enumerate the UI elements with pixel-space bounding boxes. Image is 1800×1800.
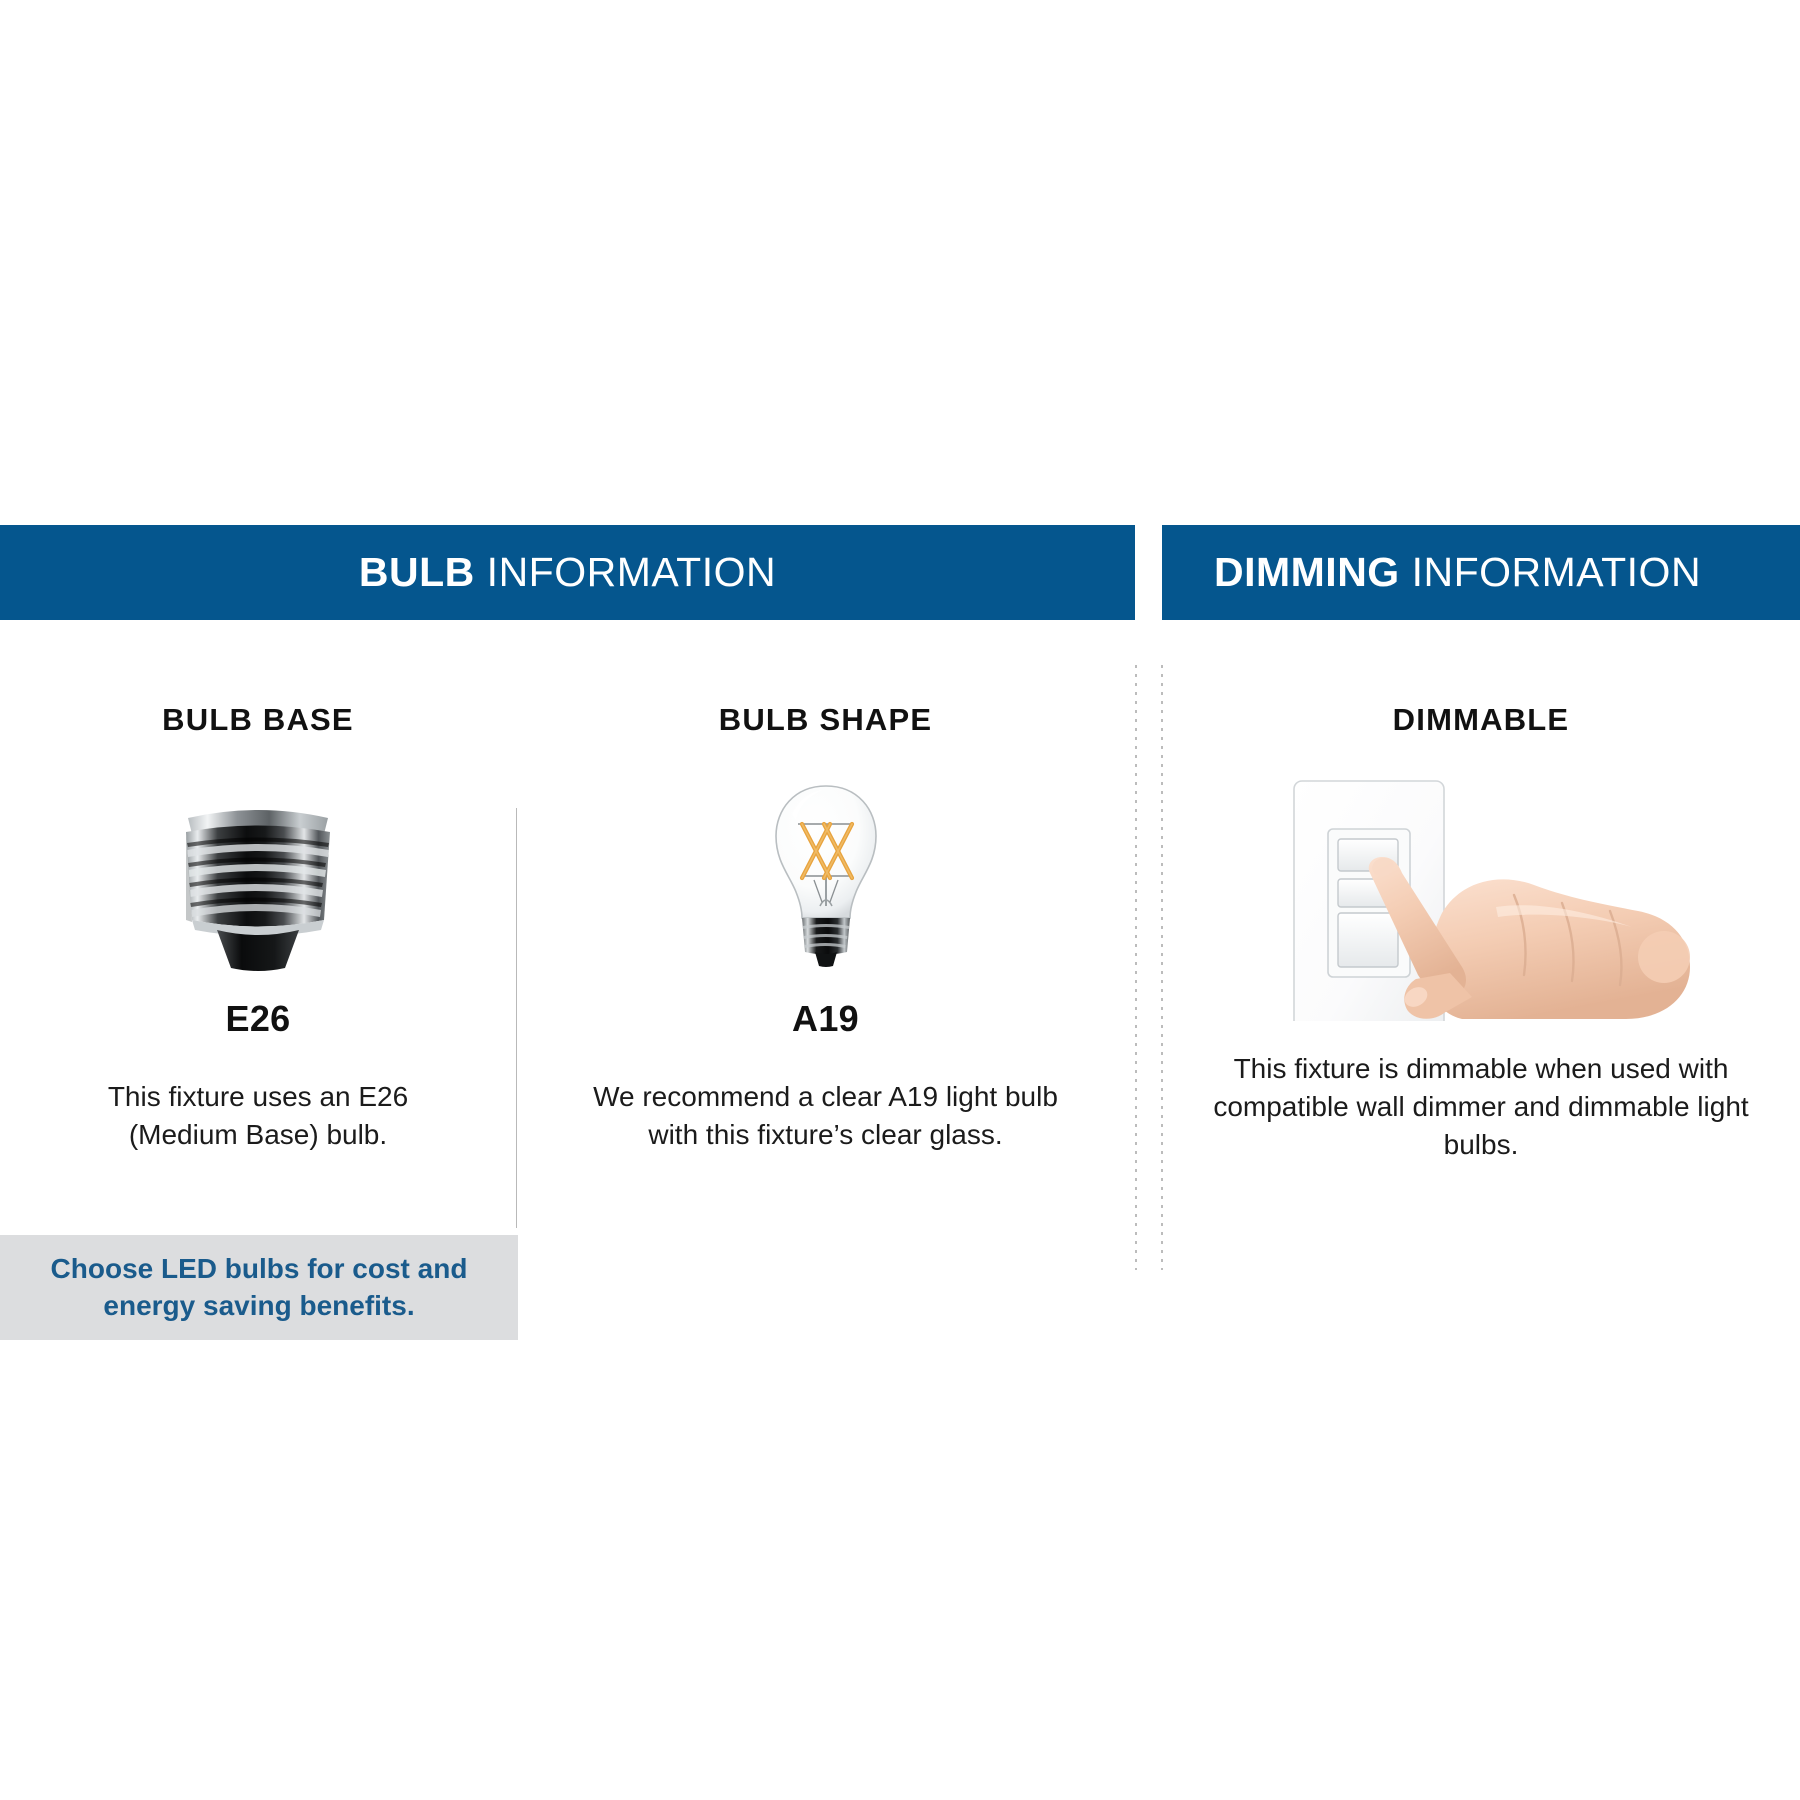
bulb-panel-title: BULB INFORMATION: [359, 549, 776, 596]
dimming-panel-title-light: INFORMATION: [1412, 549, 1701, 595]
dimmable-heading: DIMMABLE: [1162, 702, 1800, 738]
dimmable-description: This fixture is dimmable when used with …: [1162, 1050, 1800, 1164]
bulb-panel-body: BULB BASE: [0, 620, 1135, 1380]
bulb-panel-title-light: INFORMATION: [487, 549, 776, 595]
dimming-panel-title-strong: DIMMING: [1214, 549, 1400, 595]
bulb-panel-header: BULB INFORMATION: [0, 525, 1135, 620]
dimming-panel-title: DIMMING INFORMATION: [1214, 549, 1701, 596]
bulb-base-value: E26: [0, 998, 516, 1040]
dimmer-image-slot: [1162, 756, 1800, 1026]
led-callout-text: Choose LED bulbs for cost and energy sav…: [0, 1251, 518, 1324]
panel-divider-dotted-right: [1161, 665, 1163, 1270]
bulb-base-heading: BULB BASE: [0, 702, 516, 738]
dimming-information-panel: DIMMING INFORMATION DIMMABLE: [1162, 525, 1800, 1462]
bulb-base-description: This fixture uses an E26 (Medium Base) b…: [0, 1078, 516, 1154]
wall-dimmer-switch-icon: [1266, 761, 1696, 1021]
bulb-shape-heading: BULB SHAPE: [516, 702, 1135, 738]
a19-bulb-icon: [762, 780, 890, 980]
bulb-shape-column: BULB SHAPE: [516, 620, 1135, 1154]
bulb-base-image-slot: [0, 760, 516, 980]
bulb-shape-image-slot: [516, 760, 1135, 980]
led-recommendation-callout: Choose LED bulbs for cost and energy sav…: [0, 1235, 518, 1340]
e26-screw-base-icon: [155, 774, 361, 980]
bulb-panel-title-strong: BULB: [359, 549, 475, 595]
bulb-shape-value: A19: [516, 998, 1135, 1040]
bulb-shape-description: We recommend a clear A19 light bulb with…: [516, 1078, 1135, 1154]
dimming-panel-header: DIMMING INFORMATION: [1162, 525, 1800, 620]
bulb-information-panel: BULB INFORMATION BULB BASE: [0, 525, 1135, 1380]
panel-divider-dotted-left: [1135, 665, 1137, 1270]
dimming-panel-body: DIMMABLE: [1162, 702, 1800, 1462]
bulb-base-column: BULB BASE: [0, 620, 516, 1154]
product-info-graphic: BULB INFORMATION BULB BASE: [0, 0, 1800, 1800]
